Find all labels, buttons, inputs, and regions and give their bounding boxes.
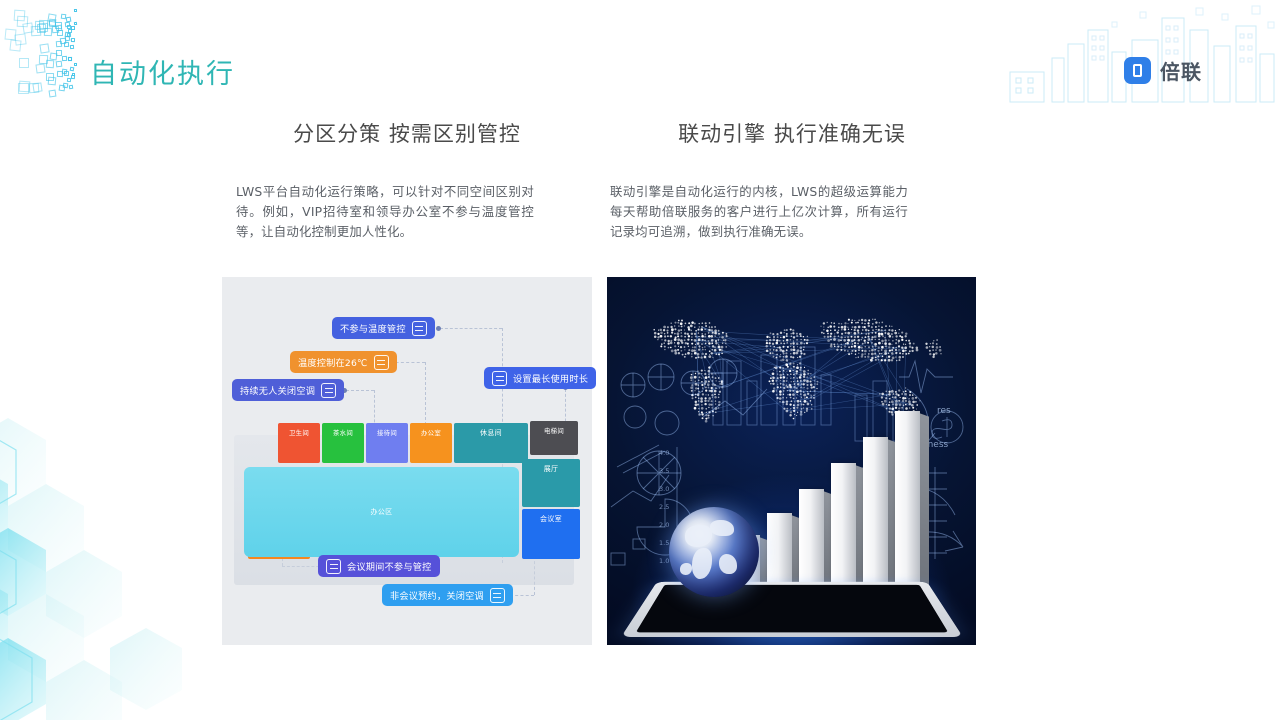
room-block: 接待间 — [366, 423, 408, 463]
brand-mark-icon — [1124, 57, 1151, 84]
pixel-square — [70, 67, 74, 71]
pixel-square — [59, 84, 66, 91]
pixel-square — [19, 58, 30, 69]
pixel-square — [48, 76, 56, 84]
pixel-square — [50, 52, 58, 60]
connector-line — [346, 390, 374, 391]
bar — [767, 513, 792, 587]
pixel-square — [74, 9, 77, 12]
room-block: 休息间 — [454, 423, 528, 463]
room-block: 办公室 — [410, 423, 452, 463]
pixel-square — [72, 73, 75, 76]
tablet-device — [621, 582, 963, 637]
column-right: 联动引擎 执行准确无误 联动引擎是自动化运行的内核，LWS的超级运算能力每天帮助… — [607, 118, 977, 242]
column-right-body: 联动引擎是自动化运行的内核，LWS的超级运算能力每天帮助倍联服务的客户进行上亿次… — [610, 182, 908, 242]
connector-dot — [436, 326, 441, 331]
pixel-square — [55, 40, 62, 47]
earth-globe — [669, 507, 759, 597]
svg-text:4.0: 4.0 — [659, 449, 669, 457]
column-left: 分区分策 按需区别管控 LWS平台自动化运行策略，可以针对不同空间区别对待。例如… — [222, 118, 592, 242]
pixel-square — [64, 71, 69, 76]
pixel-square — [39, 43, 49, 53]
room-block-open-office: 办公区 — [244, 467, 519, 557]
pixel-square — [48, 20, 56, 28]
pixel-square — [57, 71, 63, 77]
column-right-heading: 联动引擎 执行准确无误 — [607, 118, 977, 148]
slide-root: 自动化执行 倍联 分区分策 按需区别管控 LWS平台自动化运行策略，可以针对不同… — [0, 0, 1280, 720]
pixel-square — [73, 63, 76, 66]
pixel-square — [62, 56, 67, 61]
pixel-mosaic-decoration — [0, 0, 90, 100]
bar — [831, 463, 856, 587]
hexagon-pattern-decoration — [0, 410, 190, 720]
pixel-square — [67, 25, 72, 30]
brand-logo: 倍联 — [1124, 56, 1202, 85]
svg-text:3.5: 3.5 — [659, 467, 669, 475]
thermometer-icon — [374, 355, 389, 370]
svg-text:3.0: 3.0 — [659, 485, 669, 493]
svg-text:1.0: 1.0 — [659, 557, 669, 565]
column-left-heading: 分区分策 按需区别管控 — [222, 118, 592, 148]
chip-meeting-exempt: 会议期间不参与管控 — [318, 555, 440, 577]
pixel-square — [69, 84, 74, 89]
pixel-square — [61, 13, 67, 19]
bar — [895, 411, 920, 587]
sensor-icon — [321, 383, 336, 398]
bar — [799, 489, 824, 587]
room-block: 展厅 — [522, 459, 580, 507]
pixel-square — [43, 28, 51, 36]
page-title: 自动化执行 — [90, 52, 235, 91]
brand-name: 倍联 — [1160, 56, 1202, 85]
pixel-square — [38, 55, 47, 64]
svg-text:2.5: 2.5 — [659, 503, 669, 511]
pixel-square — [66, 77, 71, 82]
pixel-square — [29, 83, 39, 93]
data-visualization-image: res business 4.03.53.0 2.52.01.5 1.0 — [607, 277, 976, 645]
chip-unoccupied-shutdown: 持续无人关闭空调 — [232, 379, 344, 401]
meeting-icon — [326, 559, 341, 574]
document-icon — [412, 321, 427, 336]
room-block: 会议室 — [522, 509, 580, 559]
calendar-icon — [490, 588, 505, 603]
pixel-square — [49, 90, 57, 98]
floorplan-illustration: 卫生间 茶水间 接待间 办公室 休息间 电梯间 展厅 会议室 会议室 办公区 不… — [222, 277, 592, 645]
pixel-square — [69, 45, 73, 49]
pixel-square — [64, 42, 69, 47]
pixel-square — [18, 83, 29, 94]
pixel-square — [23, 23, 35, 35]
timer-icon — [492, 371, 507, 386]
pixel-square — [36, 63, 46, 73]
chip-temp-26: 温度控制在26℃ — [290, 351, 397, 373]
pixel-square — [68, 57, 72, 61]
connector-line — [440, 328, 502, 329]
pixel-square — [10, 39, 22, 51]
chip-max-usage-time: 设置最长使用时长 — [484, 367, 596, 389]
svg-text:2.0: 2.0 — [659, 521, 669, 529]
room-block: 卫生间 — [278, 423, 320, 463]
pixel-square — [67, 33, 72, 38]
column-left-body: LWS平台自动化运行策略，可以针对不同空间区别对待。例如，VIP招待室和领导办公… — [236, 182, 534, 242]
bar — [863, 437, 888, 587]
svg-text:1.5: 1.5 — [659, 539, 669, 547]
bar-chart-3d — [735, 412, 920, 587]
isometric-floorplan: 卫生间 茶水间 接待间 办公室 休息间 电梯间 展厅 会议室 会议室 办公区 — [234, 417, 582, 607]
chip-no-temp-control: 不参与温度管控 — [332, 317, 435, 339]
room-block: 电梯间 — [530, 421, 578, 455]
pixel-square — [56, 61, 63, 68]
chip-no-booking-shutdown: 非会议预约，关闭空调 — [382, 584, 513, 606]
room-block: 茶水间 — [322, 423, 364, 463]
pixel-square — [71, 38, 75, 42]
sketch-word-res: res — [937, 406, 951, 416]
